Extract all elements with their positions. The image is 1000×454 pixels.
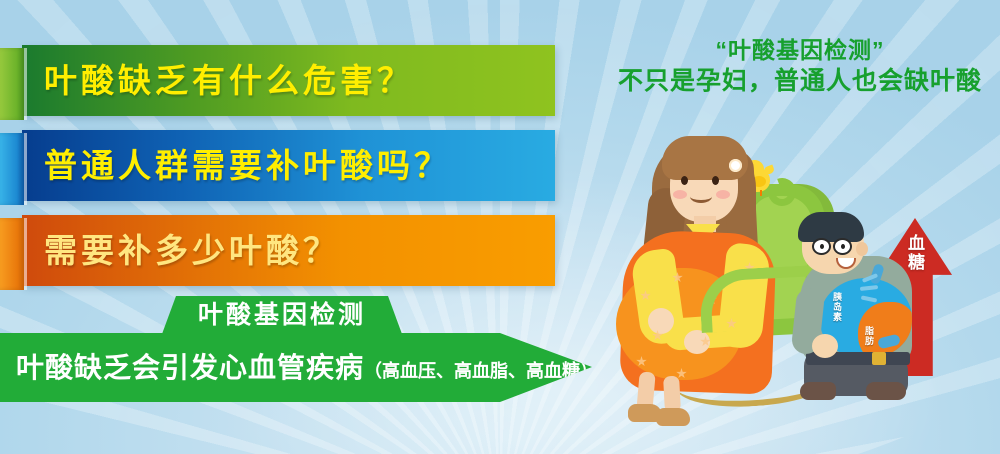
- banner-need-label: 普通人群需要补叶酸吗？: [44, 149, 451, 182]
- headline-line-2: 不只是孕妇，普通人也会缺叶酸: [600, 65, 1000, 97]
- green-arrow-tab-label: 叶酸基因检测: [198, 303, 366, 328]
- green-arrow-paren-text: （高血压、高血脂、高血糖）: [364, 362, 598, 380]
- banner-harm[interactable]: 叶酸缺乏有什么危害？: [22, 45, 555, 116]
- banner-fold-tab: [0, 48, 24, 120]
- poster-canvas: 血糖 血压 胰岛素 脂肪 叶酸缺乏有什么危害？: [0, 0, 1000, 454]
- headline-block: “叶酸基因检测” 不只是孕妇，普通人也会缺叶酸: [600, 36, 1000, 97]
- green-arrow-body: 叶酸缺乏会引发心血管疾病 （高血压、高血脂、高血糖）: [0, 333, 592, 402]
- headline-line-1: “叶酸基因检测”: [600, 36, 1000, 65]
- green-arrow-callout[interactable]: 叶酸基因检测 叶酸缺乏会引发心血管疾病 （高血压、高血脂、高血糖）: [0, 296, 600, 402]
- green-arrow-text-line: 叶酸缺乏会引发心血管疾病 （高血压、高血脂、高血糖）: [16, 354, 598, 382]
- banner-harm-label: 叶酸缺乏有什么危害？: [44, 64, 414, 97]
- green-arrow-main-text: 叶酸缺乏会引发心血管疾病: [16, 354, 364, 382]
- banner-howmuch-label: 需要补多少叶酸？: [44, 234, 340, 267]
- green-arrow-tab: 叶酸基因检测: [162, 296, 402, 334]
- banner-fold-tab: [0, 133, 24, 205]
- banner-need[interactable]: 普通人群需要补叶酸吗？: [22, 130, 555, 201]
- banner-howmuch[interactable]: 需要补多少叶酸？: [22, 215, 555, 286]
- banner-fold-tab: [0, 218, 24, 290]
